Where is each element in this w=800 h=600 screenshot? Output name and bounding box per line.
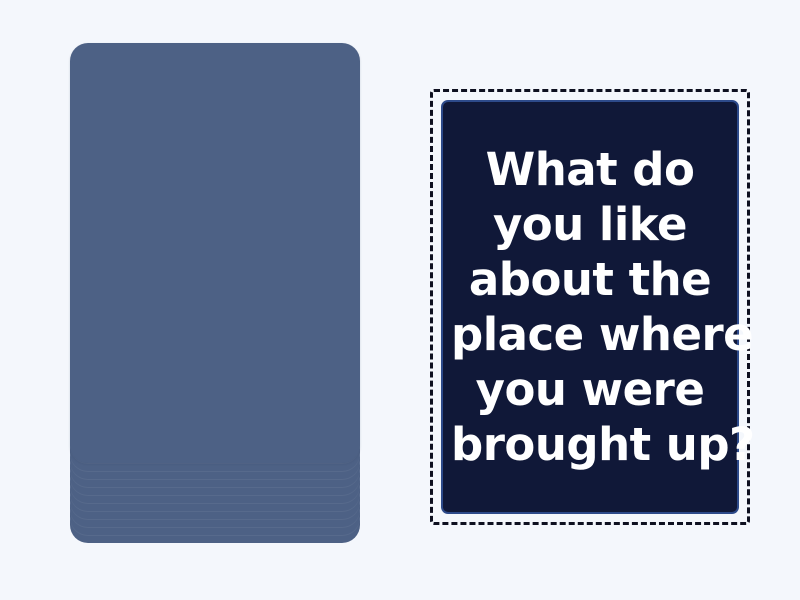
card-deck[interactable] — [70, 43, 360, 550]
question-line: you were — [451, 362, 729, 417]
activity-stage: What do you like about the place where y… — [0, 0, 800, 600]
question-line: place where — [451, 307, 729, 362]
question-card-selection-outline[interactable]: What do you like about the place where y… — [430, 89, 750, 525]
question-line: you like — [451, 197, 729, 252]
question-text: What do you like about the place where y… — [451, 142, 729, 472]
question-line: What do — [451, 142, 729, 197]
deck-top-card[interactable] — [70, 43, 360, 463]
question-line: brought up? — [451, 417, 729, 472]
question-card[interactable]: What do you like about the place where y… — [441, 100, 739, 514]
question-line: about the — [451, 252, 729, 307]
